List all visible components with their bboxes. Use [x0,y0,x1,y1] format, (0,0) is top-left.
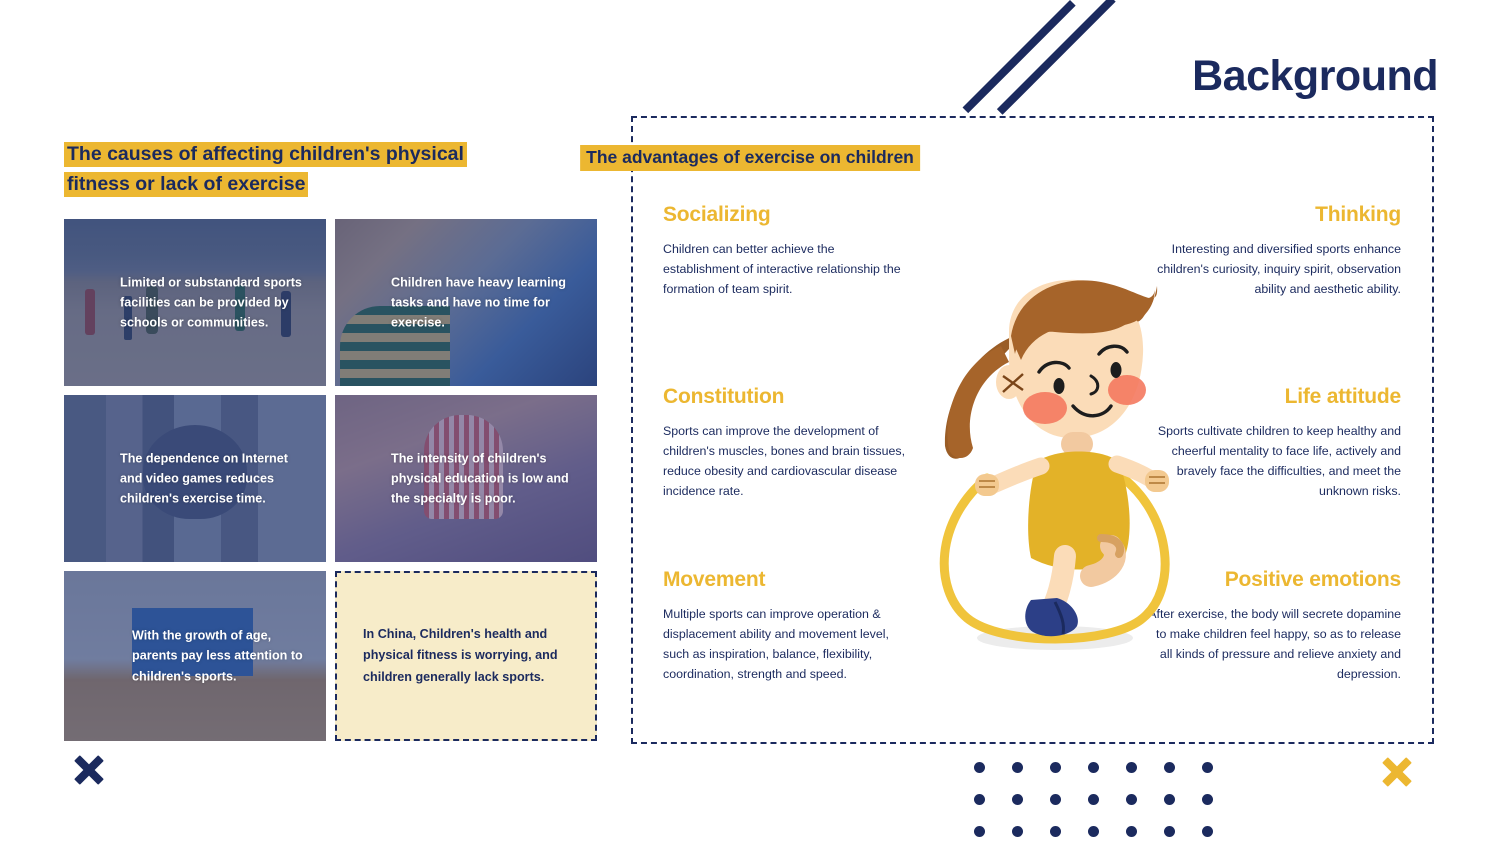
cause-card-caption: With the growth of age, parents pay less… [132,625,312,686]
dot [1088,762,1099,773]
dot [1050,794,1061,805]
benefit-body: Sports can improve the development of ch… [663,421,921,501]
cause-card-caption: Children have heavy learning tasks and h… [391,272,583,333]
cause-card-grid: Limited or substandard sports facilities… [64,219,597,741]
benefit-body: Multiple sports can improve operation & … [663,604,913,684]
benefit-movement: Movement Multiple sports can improve ope… [663,568,913,684]
benefit-title: Movement [663,568,913,592]
dot [1202,826,1213,837]
benefit-constitution: Constitution Sports can improve the deve… [663,385,921,501]
cause-card-caption: Limited or substandard sports facilities… [120,272,312,333]
china-note-text: In China, Children's health and physical… [363,624,569,689]
cause-card-caption: The intensity of children's physical edu… [391,448,583,509]
x-mark-navy-icon [72,753,106,787]
cause-card-internet-dependence[interactable]: The dependence on Internet and video gam… [64,395,326,562]
benefit-title: Socializing [663,203,913,227]
cause-card-heavy-learning-tasks[interactable]: Children have heavy learning tasks and h… [335,219,597,386]
benefit-socializing: Socializing Children can better achieve … [663,203,913,299]
benefit-body: Children can better achieve the establis… [663,239,913,299]
dot [1126,826,1137,837]
left-heading-line-1: The causes of affecting children's physi… [64,142,467,167]
dot [1164,762,1175,773]
dot [974,826,985,837]
dot [1126,762,1137,773]
dot [1164,794,1175,805]
dot-grid-decoration [974,762,1240,844]
dot [1088,826,1099,837]
dot [1012,826,1023,837]
cause-card-caption: The dependence on Internet and video gam… [120,448,312,509]
cause-card-parents-attention[interactable]: With the growth of age, parents pay less… [64,571,326,741]
dot [1012,762,1023,773]
dot [1202,762,1213,773]
dot [1088,794,1099,805]
dot [1050,826,1061,837]
dot [1202,794,1213,805]
dot [1012,794,1023,805]
benefit-title: Constitution [663,385,921,409]
left-section-heading: The causes of affecting children's physi… [64,140,598,199]
left-heading-line-2: fitness or lack of exercise [64,172,308,197]
dot [974,794,985,805]
cause-card-low-pe-intensity[interactable]: The intensity of children's physical edu… [335,395,597,562]
dot [1050,762,1061,773]
advantages-panel-heading: The advantages of exercise on children [580,145,920,171]
china-note-card: In China, Children's health and physical… [335,571,597,741]
dot [1164,826,1175,837]
dot [974,762,985,773]
dot [1126,794,1137,805]
benefit-title: Thinking [1151,203,1401,227]
slide-root: Background The causes of affecting child… [0,0,1500,844]
page-title: Background [1192,52,1438,101]
girl-jumping-rope-illustration [905,250,1205,660]
x-mark-gold-icon [1380,755,1414,789]
cause-card-sports-facilities[interactable]: Limited or substandard sports facilities… [64,219,326,386]
